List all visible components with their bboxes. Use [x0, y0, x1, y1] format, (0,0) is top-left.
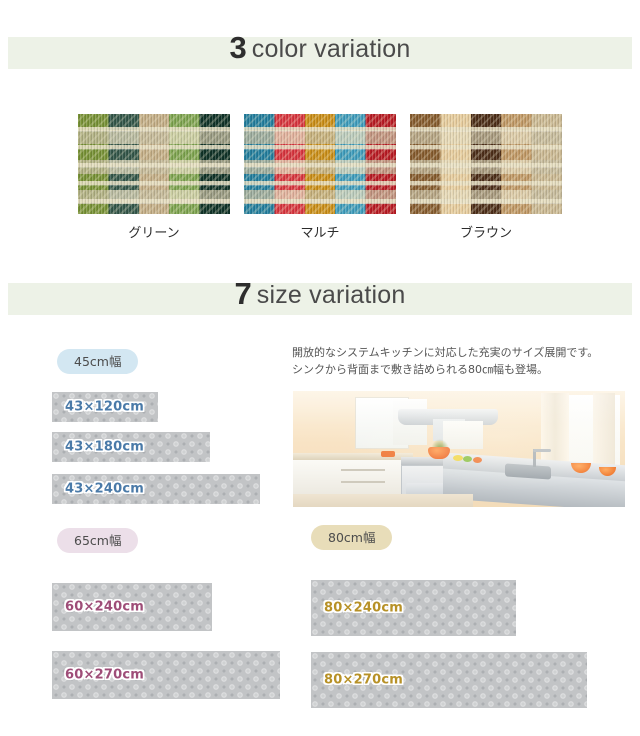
- size-bar-label-60x270: 60×270cm: [65, 668, 144, 683]
- size-bar-label-80x270: 80×270cm: [324, 673, 403, 688]
- size-bar-label-80x240: 80×240cm: [324, 601, 403, 616]
- color-swatch-brown[interactable]: ブラウン: [410, 114, 562, 214]
- size-group-badge-80: 80cm幅: [311, 525, 392, 550]
- color-swatch-green[interactable]: グリーン: [78, 114, 230, 214]
- weave-stitch-texture: [410, 114, 562, 214]
- color-swatch-row: グリーン マルチ ブラウン: [0, 114, 640, 254]
- color-swatch-brown-image: [410, 114, 562, 214]
- color-swatch-green-label: グリーン: [78, 222, 230, 241]
- size-bar-60x270[interactable]: 60×270cm: [52, 651, 280, 699]
- size-section-number: 7: [235, 276, 252, 311]
- description-line-2: シンクから背面まで敷き詰められる80㎝幅も登場。: [292, 361, 637, 378]
- size-group-badge-65: 65cm幅: [57, 528, 138, 553]
- size-bar-43x120[interactable]: 43×120cm: [52, 392, 158, 422]
- size-bar-43x240[interactable]: 43×240cm: [52, 474, 260, 504]
- size-bar-label-43x240: 43×240cm: [65, 482, 144, 497]
- color-swatch-brown-label: ブラウン: [410, 222, 562, 241]
- description-line-1: 開放的なシステムキッチンに対応した充実のサイズ展開です。: [292, 344, 637, 361]
- size-section-title: 7size variation: [0, 276, 640, 312]
- color-section-title-text: color variation: [252, 35, 411, 63]
- size-bar-label-60x240: 60×240cm: [65, 600, 144, 615]
- color-swatch-multi-label: マルチ: [244, 222, 396, 241]
- size-group-badge-45: 45cm幅: [57, 349, 138, 374]
- color-section-number: 3: [230, 30, 247, 65]
- color-swatch-green-image: [78, 114, 230, 214]
- size-section-description: 開放的なシステムキッチンに対応した充実のサイズ展開です。 シンクから背面まで敷き…: [292, 344, 637, 378]
- size-section-title-text: size variation: [257, 281, 406, 309]
- size-bar-label-43x180: 43×180cm: [65, 440, 144, 455]
- size-bar-label-43x120: 43×120cm: [65, 400, 144, 415]
- size-bar-80x240[interactable]: 80×240cm: [311, 580, 516, 636]
- weave-stitch-texture: [78, 114, 230, 214]
- size-bar-43x180[interactable]: 43×180cm: [52, 432, 210, 462]
- color-section-title: 3color variation: [0, 30, 640, 66]
- color-swatch-multi[interactable]: マルチ: [244, 114, 396, 214]
- size-bar-80x270[interactable]: 80×270cm: [311, 652, 587, 708]
- size-bar-60x240[interactable]: 60×240cm: [52, 583, 212, 631]
- color-swatch-multi-image: [244, 114, 396, 214]
- kitchen-photo: [293, 391, 625, 507]
- weave-stitch-texture: [244, 114, 396, 214]
